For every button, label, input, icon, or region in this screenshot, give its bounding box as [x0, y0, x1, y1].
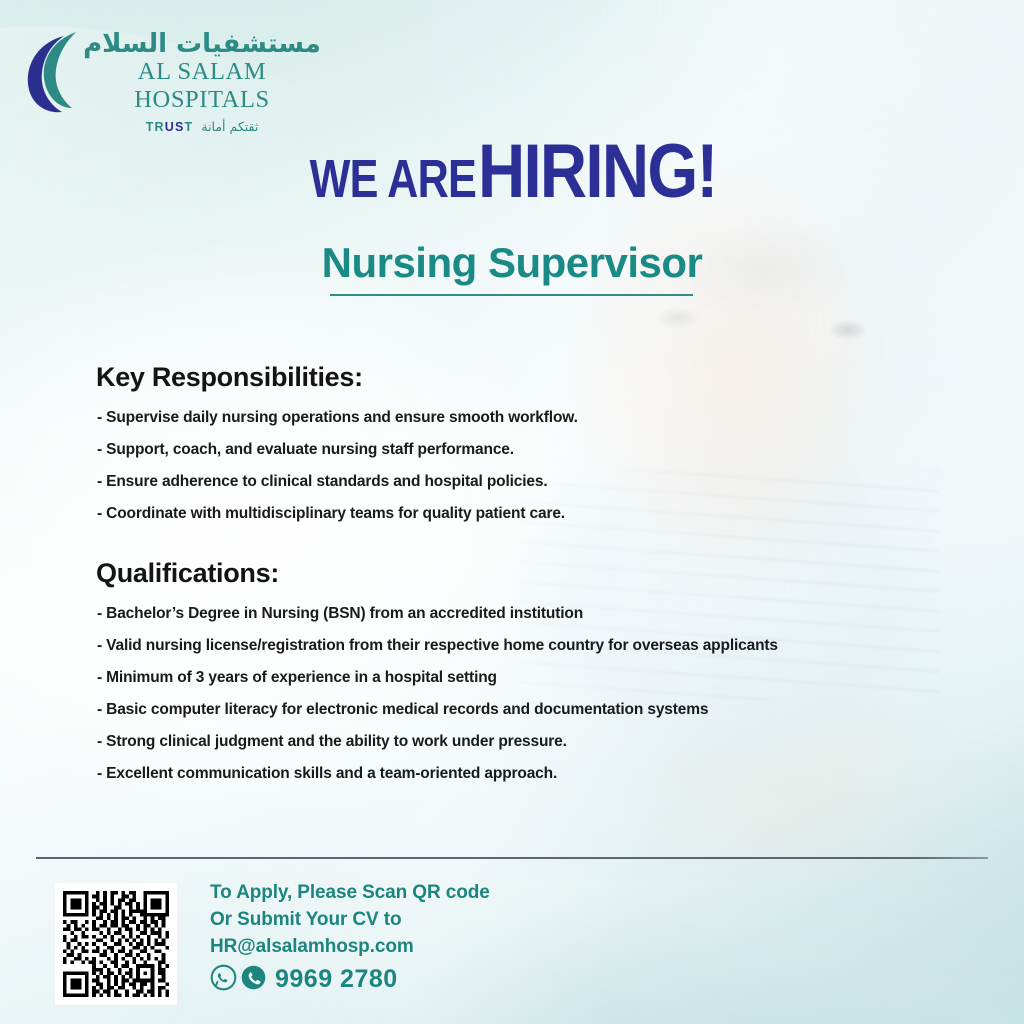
list-item: - Supervise daily nursing operations and… — [97, 410, 578, 426]
hospital-logo: مستشفيات السلام AL SALAM HOSPITALS TRUST… — [24, 30, 324, 126]
list-item: - Strong clinical judgment and the abili… — [97, 734, 778, 750]
logo-text-block: مستشفيات السلام AL SALAM HOSPITALS TRUST… — [82, 30, 322, 134]
qualifications-heading: Qualifications: — [96, 558, 279, 589]
qr-code[interactable] — [55, 883, 177, 1005]
list-item: - Valid nursing license/registration fro… — [97, 638, 778, 654]
tagline-tr: TR — [146, 120, 165, 134]
apply-instruction: To Apply, Please Scan QR code — [210, 880, 630, 907]
list-item: - Ensure adherence to clinical standards… — [97, 474, 578, 490]
phone-icon[interactable] — [240, 964, 267, 996]
phone-number: 9969 2780 — [275, 965, 398, 994]
list-item: - Excellent communication skills and a t… — [97, 766, 778, 782]
tagline-us: US — [165, 120, 185, 134]
footer-divider — [36, 857, 988, 859]
job-title-container: Nursing Supervisor — [0, 240, 1024, 286]
whatsapp-icon[interactable] — [210, 964, 237, 996]
list-item: - Support, coach, and evaluate nursing s… — [97, 442, 578, 458]
contact-block: To Apply, Please Scan QR code Or Submit … — [210, 880, 630, 996]
tagline-arabic: ثقتكم أمانة — [201, 119, 258, 134]
logo-english-name: AL SALAM HOSPITALS — [82, 58, 322, 114]
list-item: - Coordinate with multidisciplinary team… — [97, 506, 578, 522]
logo-tagline: TRUSTثقتكم أمانة — [82, 119, 322, 134]
job-title: Nursing Supervisor — [322, 240, 703, 286]
responsibilities-heading: Key Responsibilities: — [96, 362, 363, 393]
list-item: - Bachelor’s Degree in Nursing (BSN) fro… — [97, 606, 778, 622]
cv-instruction: Or Submit Your CV to — [210, 907, 630, 934]
responsibilities-list: - Supervise daily nursing operations and… — [97, 410, 578, 538]
qualifications-list: - Bachelor’s Degree in Nursing (BSN) fro… — [97, 606, 778, 798]
list-item: - Basic computer literacy for electronic… — [97, 702, 778, 718]
list-item: - Minimum of 3 years of experience in a … — [97, 670, 778, 686]
contact-email[interactable]: HR@alsalamhosp.com — [210, 934, 630, 961]
tagline-t: T — [185, 120, 194, 134]
job-title-underline — [330, 294, 693, 296]
headline-part-we-are: WE ARE — [310, 152, 476, 206]
headline-part-hiring: HIRING! — [478, 134, 716, 210]
hiring-poster: مستشفيات السلام AL SALAM HOSPITALS TRUST… — [0, 0, 1024, 1024]
logo-arabic-name: مستشفيات السلام — [82, 30, 322, 59]
phone-row: 9969 2780 — [210, 964, 630, 996]
crescent-moon-icon — [24, 32, 82, 116]
headline-we-are-hiring: WE ARE HIRING! — [0, 134, 1024, 210]
